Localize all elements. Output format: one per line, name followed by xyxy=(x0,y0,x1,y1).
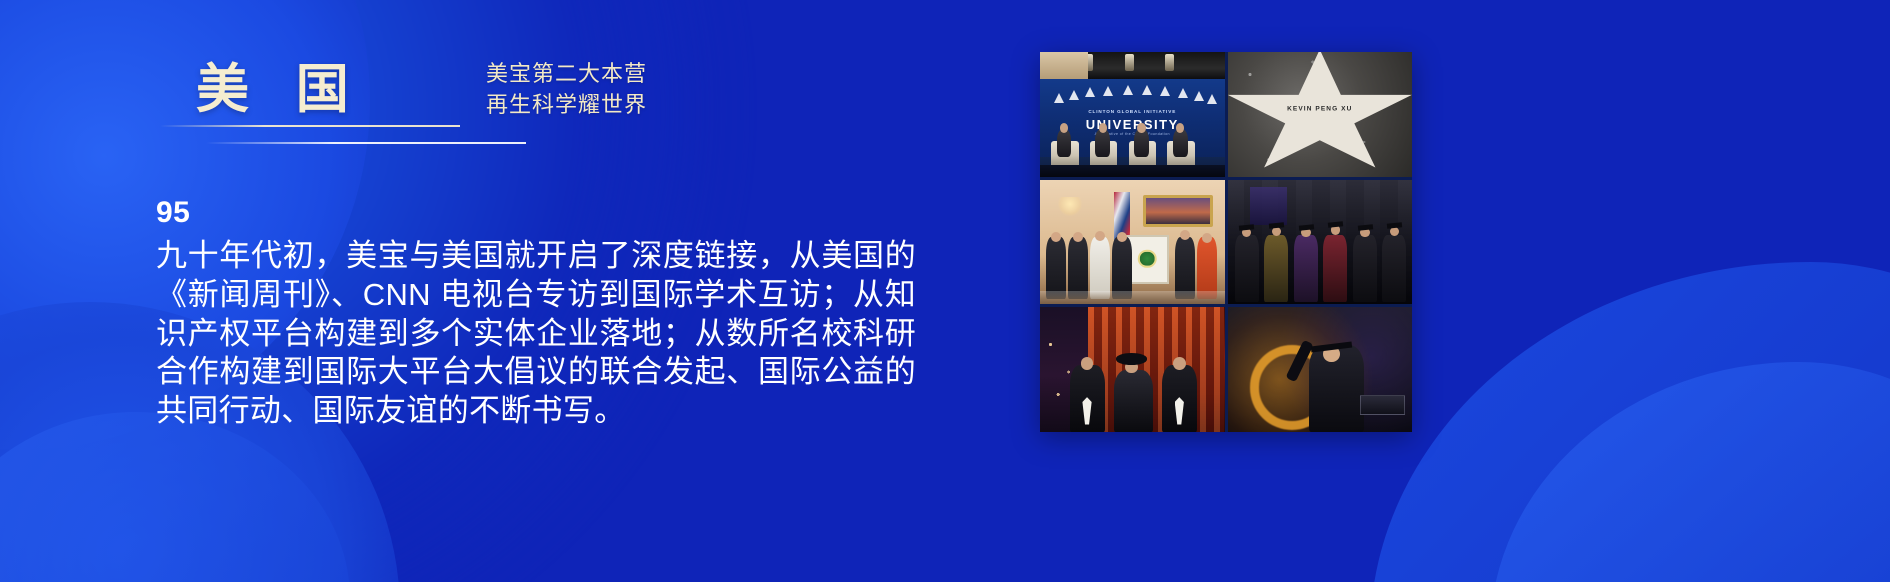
gala-guest-head xyxy=(1081,357,1094,370)
panelist xyxy=(1173,129,1188,156)
attendee-head xyxy=(1073,232,1083,242)
page-title: 美 国 xyxy=(196,62,365,118)
graduate-gown xyxy=(1382,235,1406,302)
stage-light-icon xyxy=(1165,54,1174,70)
photo-clinton-global-initiative: CLINTON GLOBAL INITIATIVE UNIVERSITY An … xyxy=(1040,52,1225,177)
attendee-head xyxy=(1180,230,1190,240)
photo-red-carpet-gala xyxy=(1040,307,1225,432)
star-arc xyxy=(1051,84,1213,99)
attendee-head xyxy=(1095,231,1105,241)
graduate-gown xyxy=(1353,235,1377,302)
gala-guest-head xyxy=(1173,357,1186,370)
graduate-gown xyxy=(1323,235,1347,302)
header: 美 国 美宝第二大本营 再生科学耀世界 xyxy=(196,62,956,118)
star-name-label: KEVIN PENG XU xyxy=(1287,106,1352,113)
seal-emblem-icon xyxy=(1138,249,1157,268)
graduate-gown xyxy=(1264,235,1288,302)
graduate-gown xyxy=(1235,235,1259,302)
title-rule-gold xyxy=(160,125,460,127)
photo-collage: CLINTON GLOBAL INITIATIVE UNIVERSITY An … xyxy=(1040,52,1412,432)
body-paragraph: 九十年代初，美宝与美国就开启了深度链接，从美国的《新闻周刊》、CNN 电视台专访… xyxy=(156,237,916,431)
gala-guest-dress xyxy=(1114,370,1153,432)
panelist xyxy=(1057,129,1072,156)
stage-light-icon xyxy=(1125,54,1134,70)
stage-curtain xyxy=(1088,307,1225,432)
panelist xyxy=(1095,129,1110,156)
body-block: 95 九十年代初，美宝与美国就开启了深度链接，从美国的《新闻周刊》、CNN 电视… xyxy=(156,195,916,431)
wall-panel xyxy=(1040,52,1088,79)
mortarboard-icon xyxy=(1357,224,1372,230)
hall-banner xyxy=(1250,187,1287,224)
panelist-head xyxy=(1137,123,1145,133)
mortarboard-icon xyxy=(1298,224,1313,230)
panelist xyxy=(1134,129,1149,156)
section-number: 95 xyxy=(156,195,916,231)
panelist-head xyxy=(1099,123,1107,133)
photo-walk-of-fame-star: KEVIN PENG XU xyxy=(1228,52,1413,177)
photo-academic-convocation xyxy=(1228,180,1413,305)
stage-floor xyxy=(1040,165,1225,176)
hat-icon xyxy=(1116,353,1147,364)
attendee-head xyxy=(1051,232,1061,242)
title-rule-white xyxy=(206,142,526,144)
backdrop-line-1: CLINTON GLOBAL INITIATIVE xyxy=(1040,109,1225,114)
graduate-gown xyxy=(1294,235,1318,302)
slide-root: 美 国 美宝第二大本营 再生科学耀世界 95 九十年代初，美宝与美国就开启了深度… xyxy=(0,0,1890,582)
header-subtitle: 美宝第二大本营 再生科学耀世界 xyxy=(486,58,647,120)
title-underline-rules xyxy=(160,125,560,151)
photo-award-ceremony xyxy=(1040,180,1225,305)
photo-graduation-celebration xyxy=(1228,307,1413,432)
stage-signage xyxy=(1360,395,1404,415)
attendee-head xyxy=(1117,232,1127,242)
framed-painting xyxy=(1143,195,1213,227)
foreground-table xyxy=(1040,291,1225,305)
wall-sconce-icon xyxy=(1058,197,1082,217)
mortarboard-icon xyxy=(1239,224,1254,230)
